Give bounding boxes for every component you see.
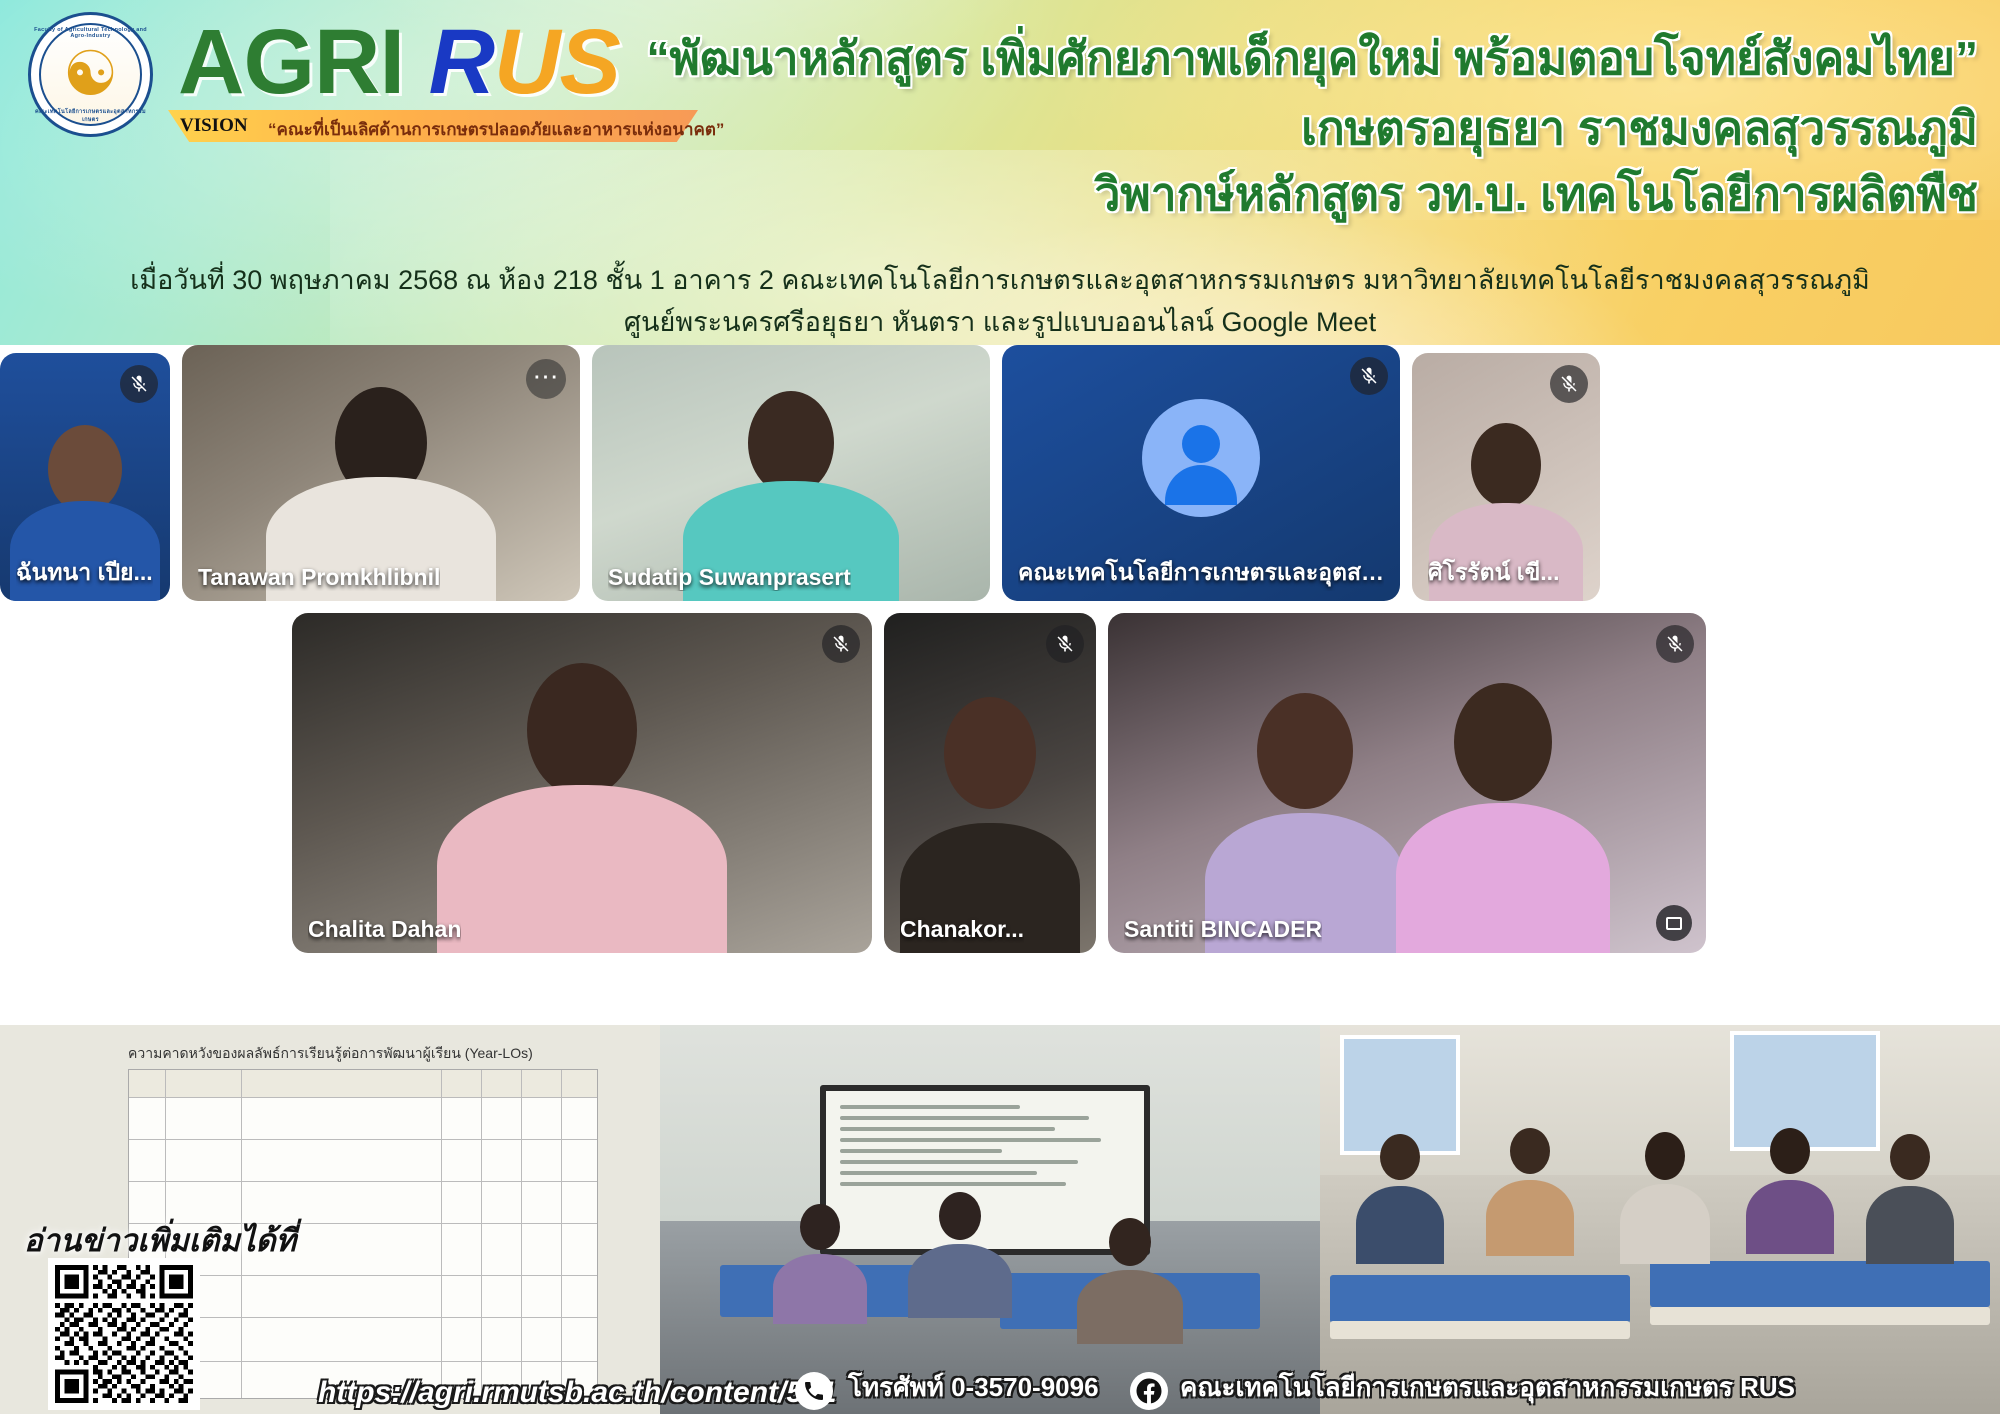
video-tile[interactable]: คณะเทคโนโลยีการเกษตรและอุตสาหกรรมเ...: [1002, 345, 1400, 601]
silhouette-body: [1486, 1180, 1574, 1256]
table-col: [561, 1070, 562, 1398]
silhouette-body: [1356, 1186, 1444, 1264]
silhouette-head: [1890, 1134, 1930, 1180]
silhouette-head: [1454, 683, 1552, 801]
wordmark-agri: AGRI: [178, 11, 404, 113]
mic-muted-icon[interactable]: [1350, 357, 1388, 395]
table-row: [129, 1098, 597, 1140]
participant-silhouette: [884, 653, 1096, 953]
silhouette-head: [748, 391, 834, 495]
video-tile[interactable]: Chanakor...: [884, 613, 1096, 953]
photo-classroom-participants: [1320, 1025, 2000, 1414]
classroom-desk: [1330, 1275, 1630, 1323]
silhouette-head: [1109, 1218, 1151, 1266]
silhouette-body: [1620, 1184, 1710, 1264]
silhouette-body: [1746, 1180, 1834, 1254]
participant-name: คณะเทคโนโลยีการเกษตรและอุตสาหกรรมเ...: [1018, 555, 1384, 591]
mic-muted-icon[interactable]: [822, 625, 860, 663]
silhouette-head: [48, 425, 122, 513]
silhouette-body: [773, 1254, 867, 1324]
wordmark-r: R: [429, 11, 494, 113]
classroom-desk: [1650, 1261, 1990, 1307]
vision-banner: VISION “คณะที่เป็นเลิศด้านการเกษตรปลอดภั…: [168, 110, 698, 142]
attendee-silhouette: [1860, 1134, 1960, 1264]
video-tile[interactable]: ศิโรรัตน์ เขี...: [1412, 353, 1600, 601]
event-detail-line-1: เมื่อวันที่ 30 พฤษภาคม 2568 ณ ห้อง 218 ช…: [0, 258, 2000, 301]
mic-muted-icon[interactable]: [120, 365, 158, 403]
avatar: [1142, 399, 1260, 517]
more-options-icon[interactable]: ⋯: [526, 359, 566, 399]
participant-name: Chanakor...: [900, 916, 1024, 943]
video-tile[interactable]: ⋯ Tanawan Promkhlibnil: [182, 345, 580, 601]
silhouette-head: [1645, 1132, 1685, 1180]
silhouette-body: [1866, 1186, 1954, 1264]
silhouette-head: [1770, 1128, 1810, 1174]
video-tile[interactable]: Sudatip Suwanprasert: [592, 345, 990, 601]
presenting-icon[interactable]: [1656, 905, 1692, 941]
phone-number: โทรศัพท์ 0-3570-9096: [848, 1367, 1099, 1408]
participant-name: Tanawan Promkhlibnil: [198, 564, 440, 591]
seal-emblem-icon: ☯: [62, 36, 119, 114]
attendee-silhouette: [765, 1204, 875, 1324]
video-tile[interactable]: ฉันทนา เปีย...: [0, 353, 170, 601]
participant-name: ฉันทนา เปีย...: [16, 555, 153, 591]
phone-icon: [795, 1372, 833, 1410]
seal-arc-bottom-text: คณะเทคโนโลยีการเกษตรและอุตสาหกรรมเกษตร: [28, 108, 153, 124]
google-meet-grid: ฉันทนา เปีย... ⋯ Tanawan Promkhlibnil Su…: [0, 345, 2000, 1025]
classroom-desk-top: [1650, 1307, 1990, 1325]
participant-name: Sudatip Suwanprasert: [608, 564, 851, 591]
headline-line-1: “พัฒนาหลักสูตร เพิ่มศักยภาพเด็กยุคใหม่ พ…: [646, 22, 1978, 95]
silhouette-head: [1257, 693, 1353, 809]
table-row: [129, 1140, 597, 1182]
silhouette-head: [527, 663, 637, 797]
participant-silhouette: [1383, 653, 1623, 953]
silhouette-body: [437, 785, 727, 953]
vision-label: VISION: [180, 115, 248, 137]
headline-line-2: เกษตรอยุธยา ราชมงคลสุวรรณภูมิ: [1301, 92, 1978, 165]
silhouette-head: [800, 1204, 840, 1250]
attendee-silhouette: [1740, 1128, 1840, 1254]
silhouette-body: [1396, 803, 1610, 953]
vision-statement: “คณะที่เป็นเลิศด้านการเกษตรปลอดภัยและอาห…: [268, 116, 724, 143]
silhouette-head: [939, 1192, 981, 1240]
photo-meeting-room-projector: [660, 1025, 1320, 1414]
silhouette-body: [908, 1244, 1012, 1318]
attendee-silhouette: [1350, 1134, 1450, 1264]
mic-muted-icon[interactable]: [1550, 365, 1588, 403]
participant-silhouette: [292, 653, 872, 953]
facebook-icon[interactable]: [1130, 1372, 1168, 1410]
agri-rus-wordmark: AGRI RUS: [178, 10, 620, 115]
silhouette-body: [1077, 1270, 1183, 1344]
silhouette-head: [944, 697, 1036, 809]
event-detail-line-2: ศูนย์พระนครศรีอยุธยา หันตรา และรูปแบบออน…: [0, 300, 2000, 343]
participant-name: Chalita Dahan: [308, 916, 461, 943]
mic-muted-icon[interactable]: [1046, 625, 1084, 663]
slide-title: ความคาดหวังของผลลัพธ์การเรียนรู้ต่อการพั…: [128, 1043, 533, 1065]
silhouette-head: [1380, 1134, 1420, 1180]
silhouette-head: [1510, 1128, 1550, 1174]
footer-contact-bar: https://agri.rmutsb.ac.th/content/521 โท…: [0, 1370, 2000, 1414]
photo-strip: ความคาดหวังของผลลัพธ์การเรียนรู้ต่อการพั…: [0, 1025, 2000, 1414]
video-tile[interactable]: Santiti BINCADER: [1108, 613, 1706, 953]
classroom-desk-top: [1330, 1321, 1630, 1339]
attendee-silhouette: [900, 1192, 1020, 1318]
table-col: [521, 1070, 522, 1398]
attendee-silhouette: [1615, 1132, 1715, 1264]
faculty-seal-logo: Faculty of Agricultural Technology and A…: [28, 12, 153, 137]
present-screen-glyph: [1666, 917, 1682, 930]
table-row: [129, 1070, 597, 1098]
participant-name: Santiti BINCADER: [1124, 916, 1322, 943]
wordmark-us: US: [494, 11, 620, 113]
mic-muted-icon[interactable]: [1656, 625, 1694, 663]
participant-name: ศิโรรัตน์ เขี...: [1428, 555, 1559, 591]
news-url[interactable]: https://agri.rmutsb.ac.th/content/521: [318, 1376, 836, 1410]
video-tile[interactable]: Chalita Dahan: [292, 613, 872, 953]
attendee-silhouette: [1070, 1218, 1190, 1344]
table-col: [441, 1070, 442, 1398]
headline-line-3: วิพากษ์หลักสูตร วท.บ. เทคโนโลยีการผลิตพื…: [1095, 158, 1978, 231]
table-col: [481, 1070, 482, 1398]
attendee-silhouette: [1480, 1128, 1580, 1256]
header-banner: Faculty of Agricultural Technology and A…: [0, 0, 2000, 345]
facebook-page-name: คณะเทคโนโลยีการเกษตรและอุตสาหกรรมเกษตร R…: [1180, 1367, 1795, 1408]
silhouette-head: [1471, 423, 1541, 507]
